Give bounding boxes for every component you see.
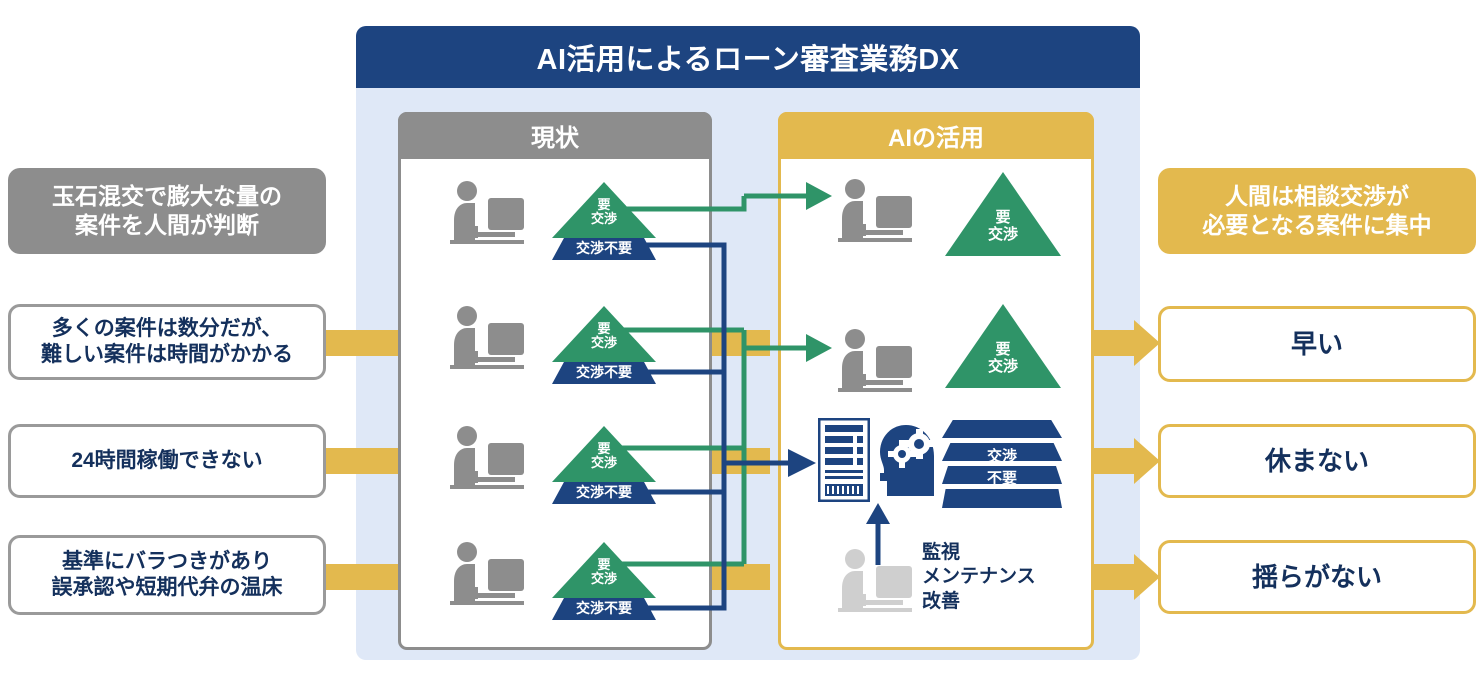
green-arrowhead-2 <box>806 334 832 362</box>
stack-slab-4 <box>942 489 1062 508</box>
left-box-1-label: 多くの案件は数分だが、難しい案件は時間がかかる <box>41 316 293 369</box>
left-box-3[interactable]: 基準にバラつきがあり誤承認や短期代弁の温床 <box>8 535 326 615</box>
maintenance-label: 監視メンテナンス改善 <box>922 541 1036 614</box>
pyramid-row-2: 要交渉 交渉不要 <box>552 306 656 384</box>
green-arrowhead-1 <box>806 182 832 210</box>
server-rack-icon <box>818 418 870 502</box>
pyramid-top-label: 要交渉 <box>552 558 656 586</box>
right-box-2[interactable]: 休まない <box>1158 424 1476 498</box>
pyramid-top-label: 要交渉 <box>552 442 656 470</box>
right-box-0-label: 人間は相談交渉が必要となる案件に集中 <box>1202 182 1431 240</box>
left-box-3-label: 基準にバラつきがあり誤承認や短期代弁の温床 <box>52 549 283 602</box>
left-box-0[interactable]: 玉石混交で膨大な量の案件を人間が判断 <box>8 168 326 254</box>
pyramid-base-label: 交渉不要 <box>552 482 656 502</box>
ai-blue-stack: 交渉不要 <box>942 420 1062 508</box>
ai-stack-label: 交渉不要 <box>942 446 1062 490</box>
green-wire-to-person2 <box>744 330 808 348</box>
person-at-computer-icon <box>444 541 530 609</box>
ai-green-triangle-2: 要交渉 <box>945 304 1061 388</box>
blue-arrowhead-server <box>788 449 816 477</box>
pyramid-row-1: 要交渉 交渉不要 <box>552 182 656 260</box>
person-at-computer-icon <box>832 328 918 396</box>
right-box-3-label: 揺らがない <box>1252 561 1382 594</box>
head-with-gears-icon <box>878 422 938 496</box>
person-at-computer-icon <box>832 548 918 616</box>
left-box-2[interactable]: 24時間稼働できない <box>8 424 326 498</box>
right-box-0[interactable]: 人間は相談交渉が必要となる案件に集中 <box>1158 168 1476 254</box>
right-box-1[interactable]: 早い <box>1158 306 1476 382</box>
pyramid-base-label: 交渉不要 <box>552 598 656 618</box>
pyramid-base-label: 交渉不要 <box>552 238 656 258</box>
maintenance-arrowhead <box>866 503 890 524</box>
person-at-computer-icon <box>832 178 918 246</box>
ai-triangle-label: 要交渉 <box>945 210 1061 244</box>
stack-slab-1 <box>942 420 1062 438</box>
pyramid-row-4: 要交渉 交渉不要 <box>552 542 656 620</box>
left-box-1[interactable]: 多くの案件は数分だが、難しい案件は時間がかかる <box>8 304 326 380</box>
right-box-2-label: 休まない <box>1265 445 1369 478</box>
person-at-computer-icon <box>444 180 530 248</box>
person-at-computer-icon <box>444 305 530 373</box>
pyramid-top-label: 要交渉 <box>552 322 656 350</box>
right-box-1-label: 早い <box>1291 328 1343 361</box>
left-box-0-label: 玉石混交で膨大な量の案件を人間が判断 <box>52 182 282 240</box>
ai-triangle-label: 要交渉 <box>945 342 1061 376</box>
right-box-3[interactable]: 揺らがない <box>1158 540 1476 614</box>
ai-green-triangle-1: 要交渉 <box>945 172 1061 256</box>
pyramid-row-3: 要交渉 交渉不要 <box>552 426 656 504</box>
pyramid-base-label: 交渉不要 <box>552 362 656 382</box>
left-box-2-label: 24時間稼働できない <box>71 448 262 474</box>
pyramid-top-label: 要交渉 <box>552 198 656 226</box>
person-at-computer-icon <box>444 425 530 493</box>
